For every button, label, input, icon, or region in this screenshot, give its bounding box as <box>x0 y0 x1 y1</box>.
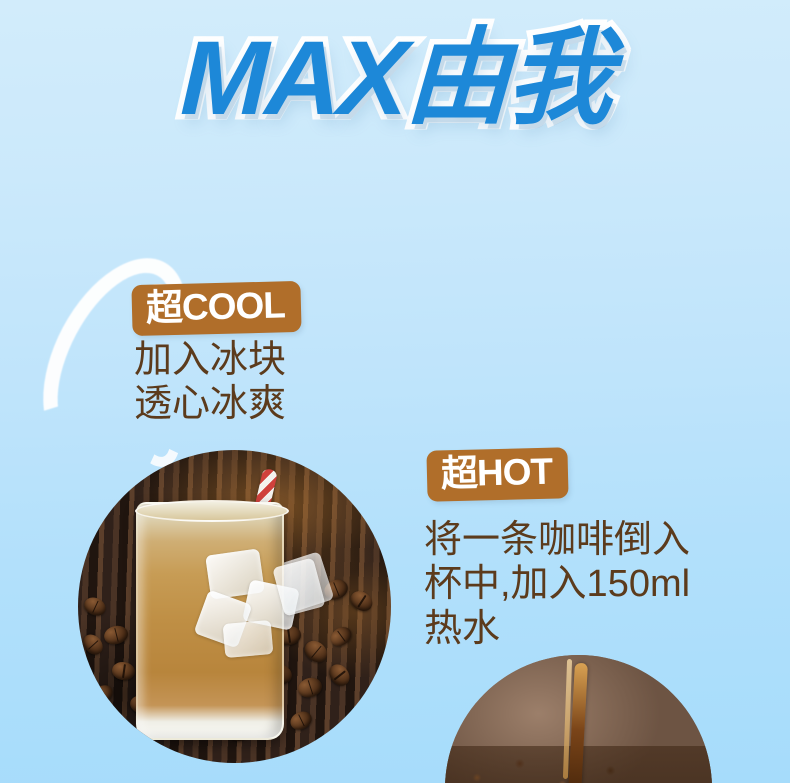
headline-text: MAX由我 <box>179 24 611 134</box>
status-badge-cool: 超COOL <box>131 281 301 337</box>
ice-cube-icon <box>223 620 274 658</box>
instruction-text-hot: 将一条咖啡倒入 杯中,加入150ml 热水 <box>424 518 690 651</box>
glass-rim <box>135 500 289 522</box>
promo-poster: MAX由我 超COOL 加入冰块 透心冰爽 超HOT 将一条咖啡倒入 杯中,加入… <box>0 0 790 783</box>
instruction-text-cool: 加入冰块 透心冰爽 <box>134 338 286 427</box>
coffee-pour-photo <box>445 655 712 783</box>
status-badge-hot: 超HOT <box>426 447 568 502</box>
page-title: MAX由我 <box>0 24 790 134</box>
glass-cup <box>136 502 284 740</box>
iced-coffee-photo <box>78 450 391 763</box>
